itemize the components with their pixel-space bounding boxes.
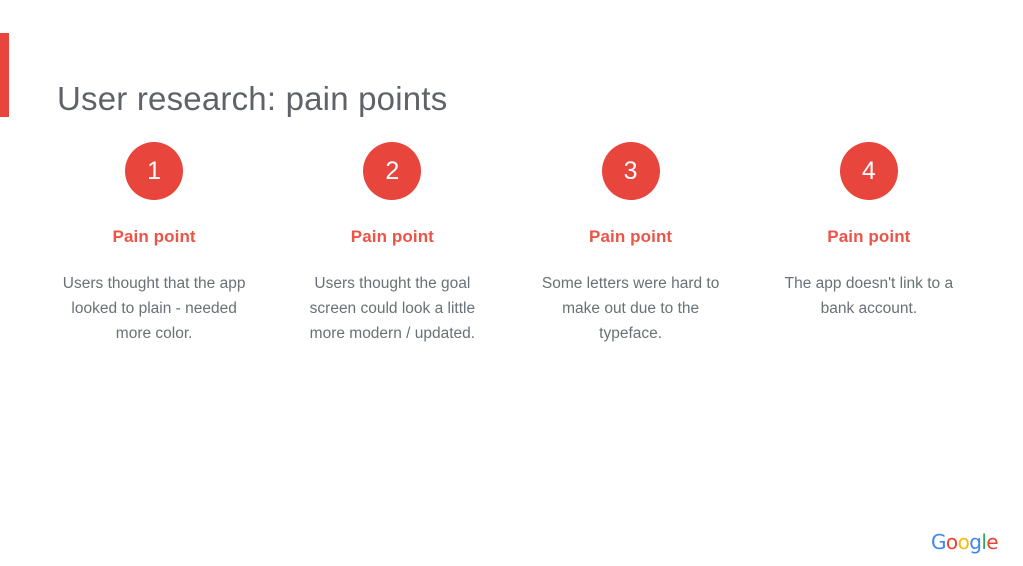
pain-point-column-2: 2 Pain point Users thought the goal scre…: [273, 142, 511, 346]
title-accent-bar: [0, 33, 9, 117]
pain-point-heading: Pain point: [589, 227, 672, 247]
pain-point-number-badge: 2: [363, 142, 421, 200]
pain-point-column-4: 4 Pain point The app doesn't link to a b…: [750, 142, 988, 321]
google-logo: Google: [931, 532, 998, 552]
pain-point-heading: Pain point: [827, 227, 910, 247]
google-logo-letter-g1: G: [931, 530, 946, 554]
pain-point-number-badge: 1: [125, 142, 183, 200]
google-logo-letter-o2: o: [958, 530, 970, 554]
pain-point-number-badge: 4: [840, 142, 898, 200]
google-logo-letter-o1: o: [946, 530, 958, 554]
page-title: User research: pain points: [57, 80, 447, 118]
pain-point-number-badge: 3: [602, 142, 660, 200]
pain-point-body: The app doesn't link to a bank account.: [769, 271, 969, 321]
pain-point-body: Users thought the goal screen could look…: [292, 271, 492, 346]
pain-point-body: Some letters were hard to make out due t…: [531, 271, 731, 346]
pain-points-row: 1 Pain point Users thought that the app …: [35, 142, 988, 346]
pain-point-column-3: 3 Pain point Some letters were hard to m…: [512, 142, 750, 346]
google-logo-letter-e: e: [986, 530, 998, 554]
google-logo-letter-g2: g: [969, 530, 981, 554]
pain-point-heading: Pain point: [113, 227, 196, 247]
pain-point-column-1: 1 Pain point Users thought that the app …: [35, 142, 273, 346]
pain-point-body: Users thought that the app looked to pla…: [58, 271, 250, 346]
slide-canvas: User research: pain points 1 Pain point …: [0, 0, 1023, 566]
pain-point-heading: Pain point: [351, 227, 434, 247]
